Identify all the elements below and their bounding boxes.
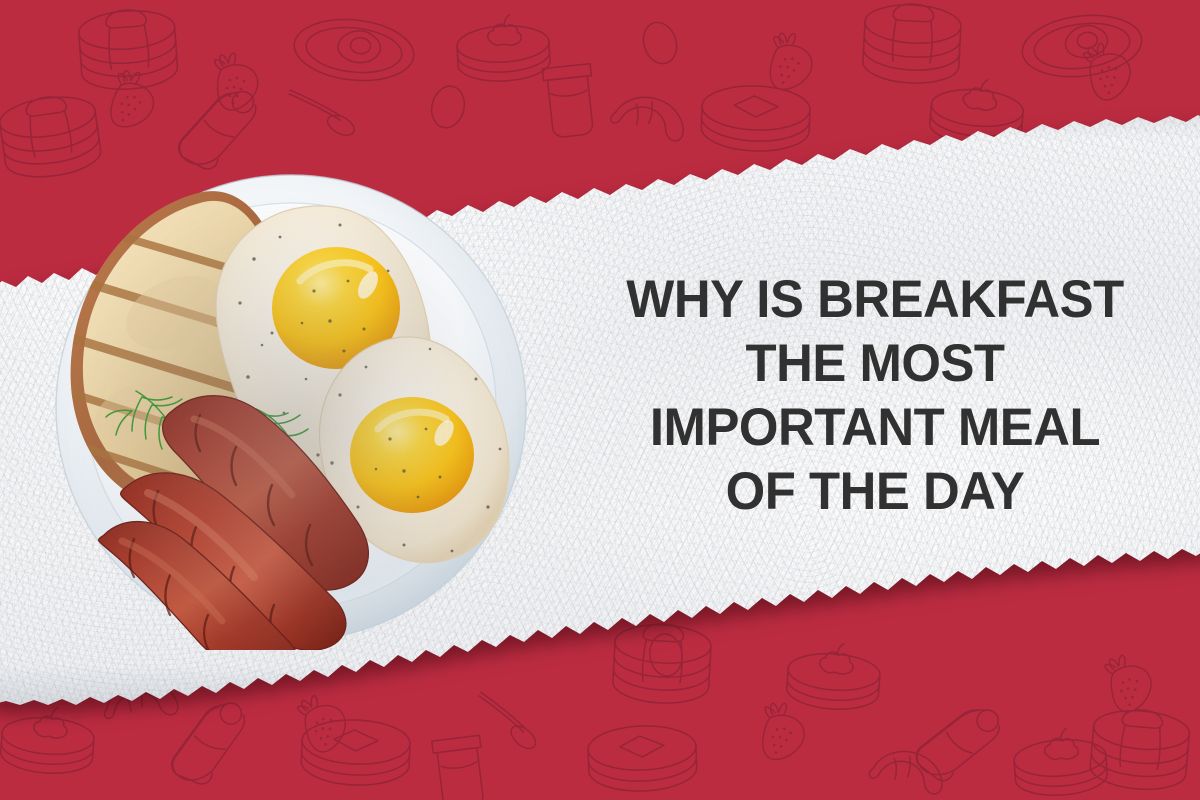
title-line-2: THE MOST <box>577 332 1172 396</box>
title-line-1: WHY IS BREAKFAST <box>577 268 1172 332</box>
title-line-3: IMPORTANT MEAL <box>577 396 1172 460</box>
plate-drop-shadow <box>58 183 528 653</box>
breakfast-banner: WHY IS BREAKFAST THE MOST IMPORTANT MEAL… <box>0 0 1200 800</box>
page-title: WHY IS BREAKFAST THE MOST IMPORTANT MEAL… <box>577 268 1172 524</box>
breakfast-plate-illustration <box>48 163 535 650</box>
title-line-4: OF THE DAY <box>577 460 1172 524</box>
